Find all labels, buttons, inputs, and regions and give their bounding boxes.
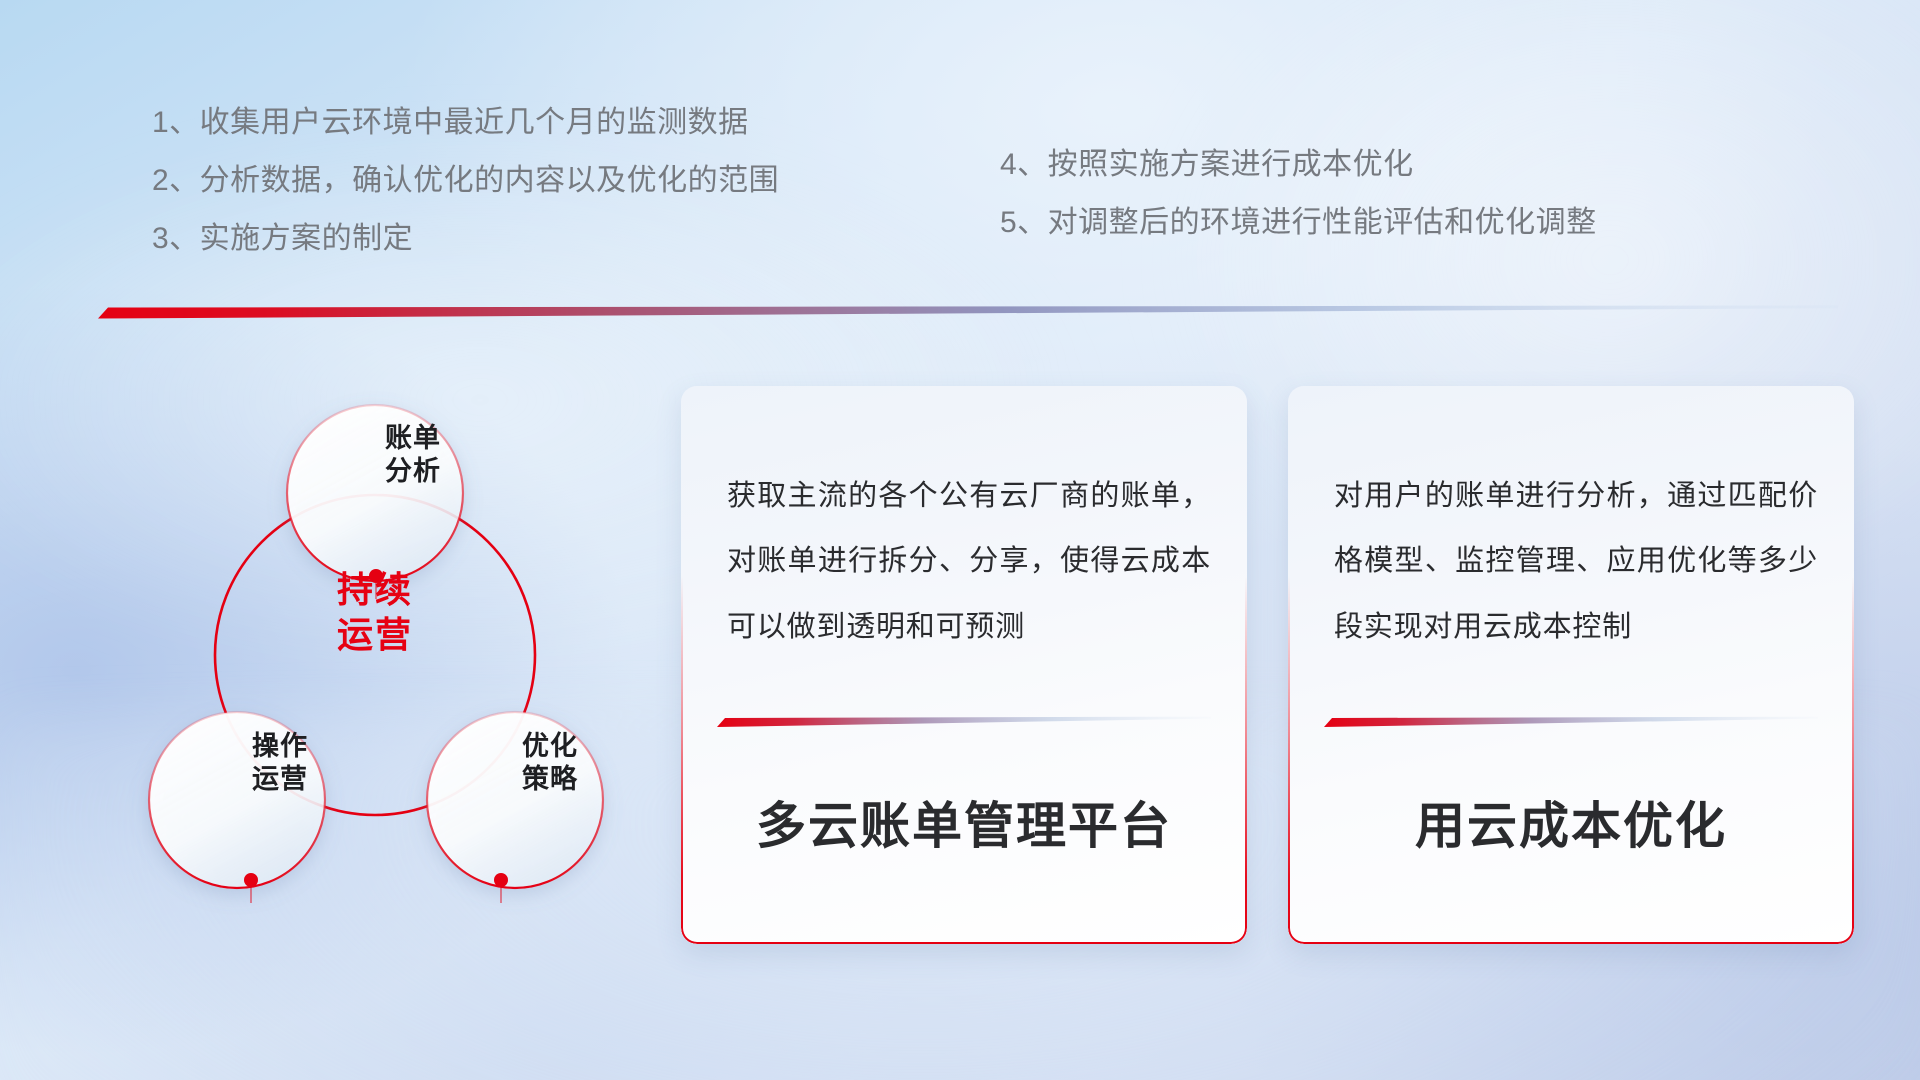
card-multi-cloud-billing[interactable]: 获取主流的各个公有云厂商的账单，对账单进行拆分、分享，使得云成本可以做到透明和可… [681,386,1247,944]
diagram-center-label: 持续 运营 [290,567,460,657]
diagram-node-dot [244,873,258,887]
card-title: 多云账单管理平台 [681,786,1247,858]
slide-canvas: 1、收集用户云环境中最近几个月的监测数据 2、分析数据，确认优化的内容以及优化的… [0,0,1920,1080]
card-cloud-cost-optimization[interactable]: 对用户的账单进行分析，通过匹配价格模型、监控管理、应用优化等多少段实现对用云成本… [1288,386,1854,944]
diagram-node-ops-operation[interactable]: 操作 运营 [205,730,355,796]
card-body-text: 获取主流的各个公有云厂商的账单，对账单进行拆分、分享，使得云成本可以做到透明和可… [727,464,1211,660]
step-item-3: 3、实施方案的制定 [152,224,779,254]
node-label-line1: 账单 [338,422,488,455]
section-divider [98,305,1838,319]
step-item-5: 5、对调整后的环境进行性能评估和优化调整 [1000,208,1597,238]
card-body-text: 对用户的账单进行分析，通过匹配价格模型、监控管理、应用优化等多少段实现对用云成本… [1334,464,1818,660]
center-label-line1: 持续 [290,567,460,612]
diagram-node-optimize-policy[interactable]: 优化 策略 [475,730,625,796]
step-item-4: 4、按照实施方案进行成本优化 [1000,150,1597,180]
card-divider [1324,716,1818,728]
center-label-line2: 运营 [290,612,460,657]
card-title: 用云成本优化 [1288,786,1854,858]
steps-right-column: 4、按照实施方案进行成本优化 5、对调整后的环境进行性能评估和优化调整 [1000,150,1597,266]
node-label-line2: 运营 [205,763,355,796]
card-divider [717,716,1211,728]
steps-left-column: 1、收集用户云环境中最近几个月的监测数据 2、分析数据，确认优化的内容以及优化的… [152,108,779,282]
continuous-operation-diagram: 账单 分析 操作 运营 优化 策略 持续 运营 [95,345,655,965]
diagram-node-dot [494,873,508,887]
node-label-line1: 操作 [205,730,355,763]
diagram-node-bill-analysis[interactable]: 账单 分析 [338,422,488,488]
step-item-2: 2、分析数据，确认优化的内容以及优化的范围 [152,166,779,196]
step-item-1: 1、收集用户云环境中最近几个月的监测数据 [152,108,779,138]
node-label-line2: 策略 [475,763,625,796]
node-label-line2: 分析 [338,455,488,488]
node-label-line1: 优化 [475,730,625,763]
